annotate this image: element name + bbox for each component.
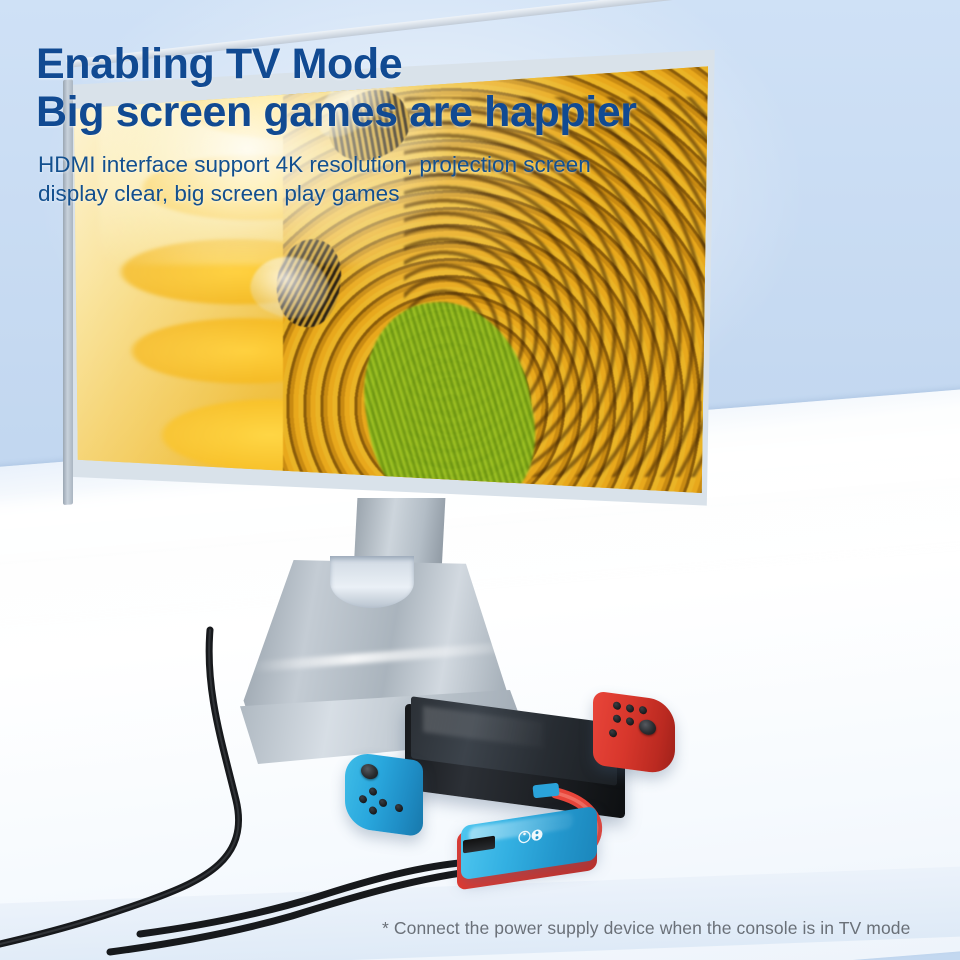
monitor-stand-cutout [330, 556, 414, 608]
dpad-up-icon [369, 787, 377, 796]
console-port-indicator [533, 786, 538, 790]
dpad-down-icon [369, 806, 377, 815]
joycon-right [593, 691, 675, 776]
dpad-left-icon [359, 795, 367, 804]
footnote-disclaimer: * Connect the power supply device when t… [382, 918, 952, 939]
button-y-icon [626, 704, 634, 713]
product-banner: Enabling TV Mode Big screen games are ha… [0, 0, 960, 960]
headline-line-2: Big screen games are happier [36, 88, 776, 136]
button-b-icon [613, 714, 621, 723]
button-a-icon [639, 706, 647, 715]
analog-stick-icon [361, 763, 378, 780]
analog-stick-icon [639, 719, 656, 736]
subtitle: HDMI interface support 4K resolution, pr… [38, 150, 798, 209]
hdmi-dock-adapter [455, 812, 605, 890]
page-title: Enabling TV Mode Big screen games are ha… [36, 40, 776, 136]
button-plus-icon [609, 729, 617, 738]
subtitle-line-1: HDMI interface support 4K resolution, pr… [38, 150, 798, 179]
button-x-icon [613, 701, 621, 710]
capture-button-icon [395, 803, 403, 812]
console-port-indicator [551, 788, 556, 792]
dpad-right-icon [379, 798, 387, 807]
monitor-bezel-left [63, 79, 73, 505]
subtitle-line-2: display clear, big screen play games [38, 179, 798, 208]
headline-line-1: Enabling TV Mode [36, 40, 776, 88]
button-home-icon [626, 717, 634, 726]
joycon-left [345, 751, 423, 837]
game-console [345, 700, 675, 830]
